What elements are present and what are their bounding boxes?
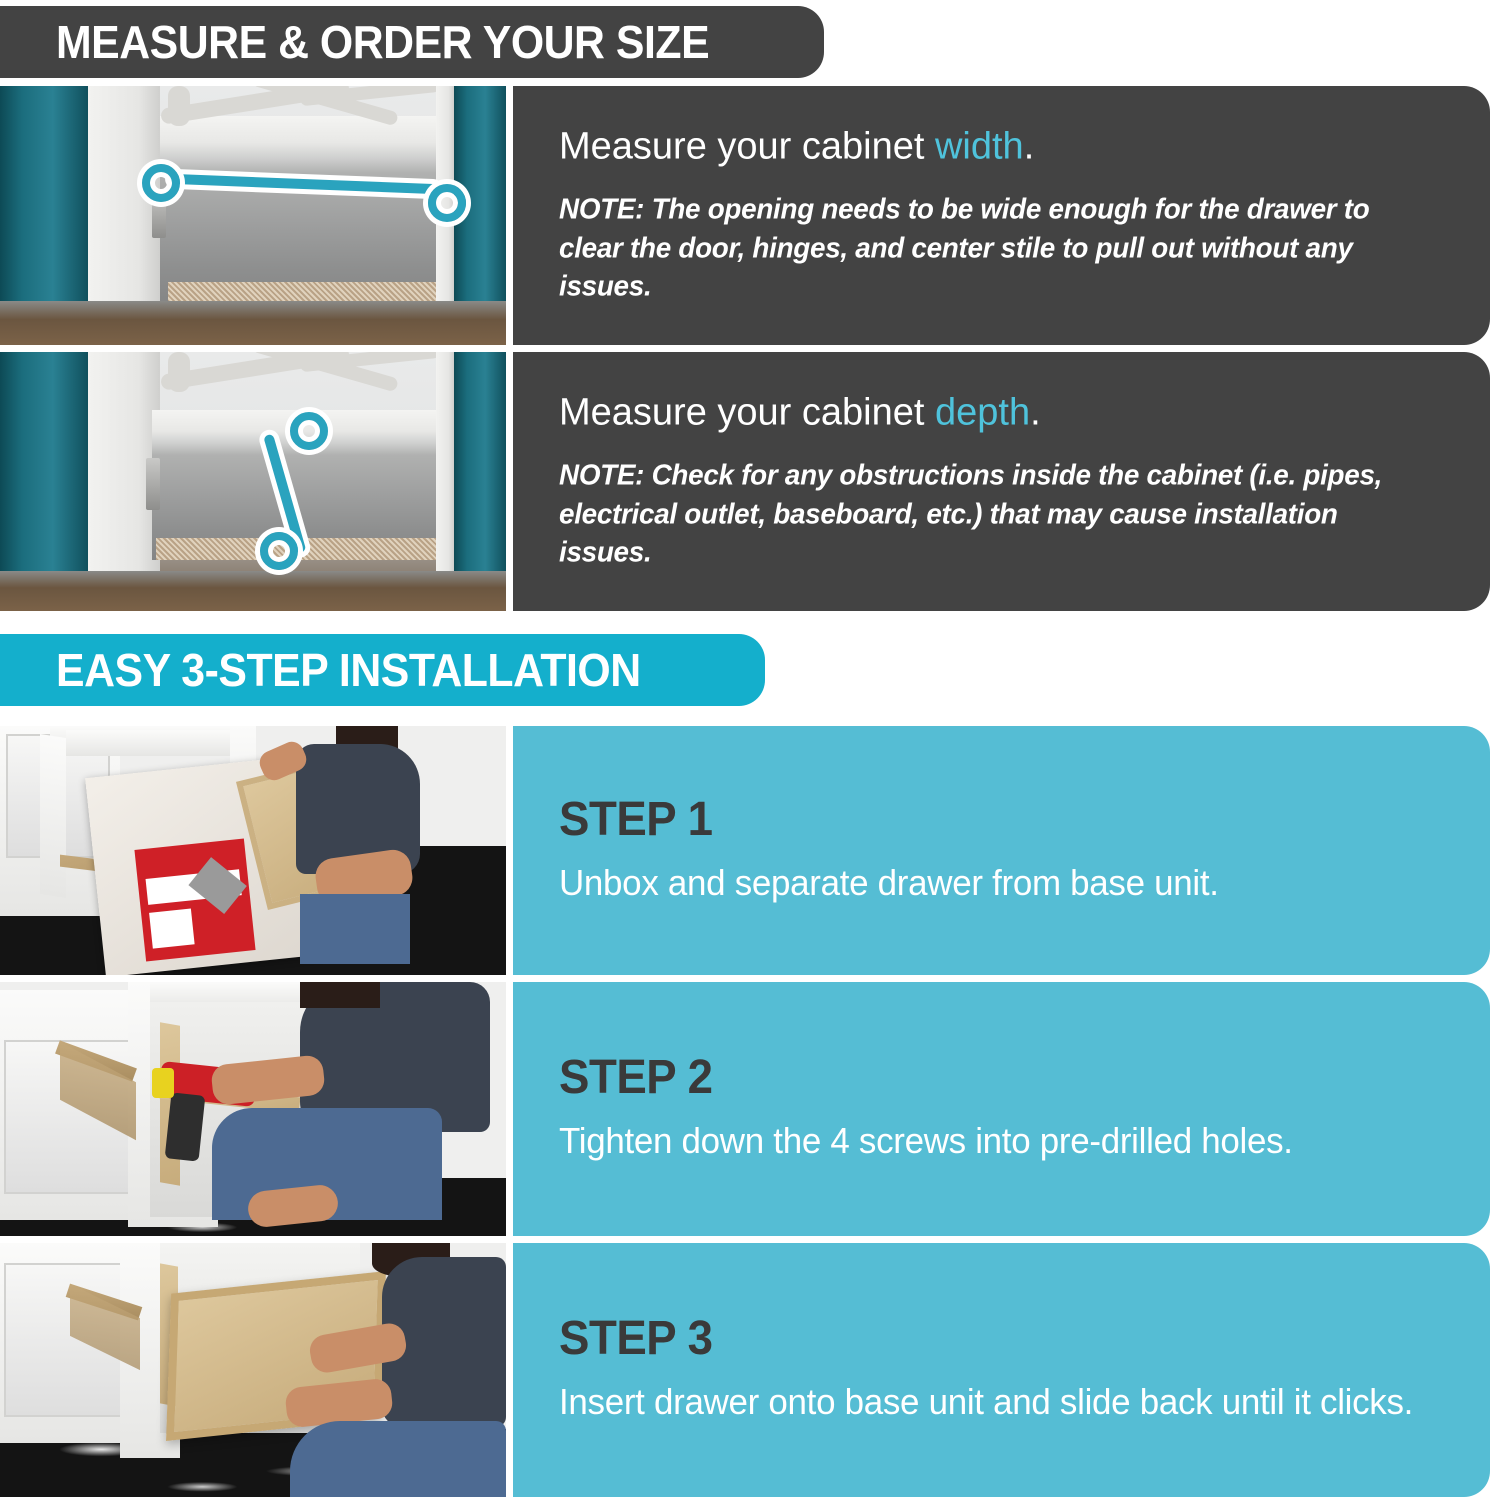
step-1-title: STEP 1	[559, 796, 1421, 844]
measure-depth-headline-highlight: depth	[935, 391, 1030, 433]
step-3-photo	[0, 1243, 506, 1497]
product-box-label	[134, 839, 255, 962]
measure-width-panel: Measure your cabinet width. NOTE: The op…	[513, 86, 1490, 345]
step-2-title: STEP 2	[559, 1054, 1421, 1102]
measure-width-note: NOTE: The opening needs to be wide enoug…	[559, 191, 1430, 307]
measure-width-headline-highlight: width	[935, 125, 1024, 167]
measure-depth-note: NOTE: Check for any obstructions inside …	[559, 457, 1430, 573]
install-section-banner: EASY 3-STEP INSTALLATION	[0, 634, 765, 706]
measure-depth-headline: Measure your cabinet depth.	[559, 391, 1466, 435]
measure-width-headline-prefix: Measure your cabinet	[559, 125, 935, 167]
step-3-title: STEP 3	[559, 1315, 1421, 1363]
step-2-photo	[0, 982, 506, 1236]
step-2-text: Tighten down the 4 screws into pre-drill…	[559, 1118, 1439, 1164]
step-3-text: Insert drawer onto base unit and slide b…	[559, 1379, 1439, 1425]
step-1-text: Unbox and separate drawer from base unit…	[559, 860, 1439, 906]
step-1-photo	[0, 726, 506, 975]
step-2-panel: STEP 2 Tighten down the 4 screws into pr…	[513, 982, 1490, 1236]
install-banner-label: EASY 3-STEP INSTALLATION	[56, 643, 641, 697]
depth-measurement-endpoint-top	[290, 412, 328, 450]
step-1-panel: STEP 1 Unbox and separate drawer from ba…	[513, 726, 1490, 975]
cabinet-width-photo	[0, 86, 506, 345]
measure-width-headline: Measure your cabinet width.	[559, 125, 1466, 169]
measure-banner-label: MEASURE & ORDER YOUR SIZE	[56, 15, 709, 69]
measure-section-banner: MEASURE & ORDER YOUR SIZE	[0, 6, 824, 78]
width-measurement-endpoint-right	[428, 184, 466, 222]
depth-measurement-endpoint-bottom	[260, 532, 298, 570]
measure-depth-headline-prefix: Measure your cabinet	[559, 391, 935, 433]
measure-depth-headline-suffix: .	[1030, 391, 1041, 433]
measure-depth-panel: Measure your cabinet depth. NOTE: Check …	[513, 352, 1490, 611]
width-measurement-endpoint-left	[142, 164, 180, 202]
measure-width-headline-suffix: .	[1024, 125, 1035, 167]
step-3-panel: STEP 3 Insert drawer onto base unit and …	[513, 1243, 1490, 1497]
cabinet-depth-photo	[0, 352, 506, 611]
